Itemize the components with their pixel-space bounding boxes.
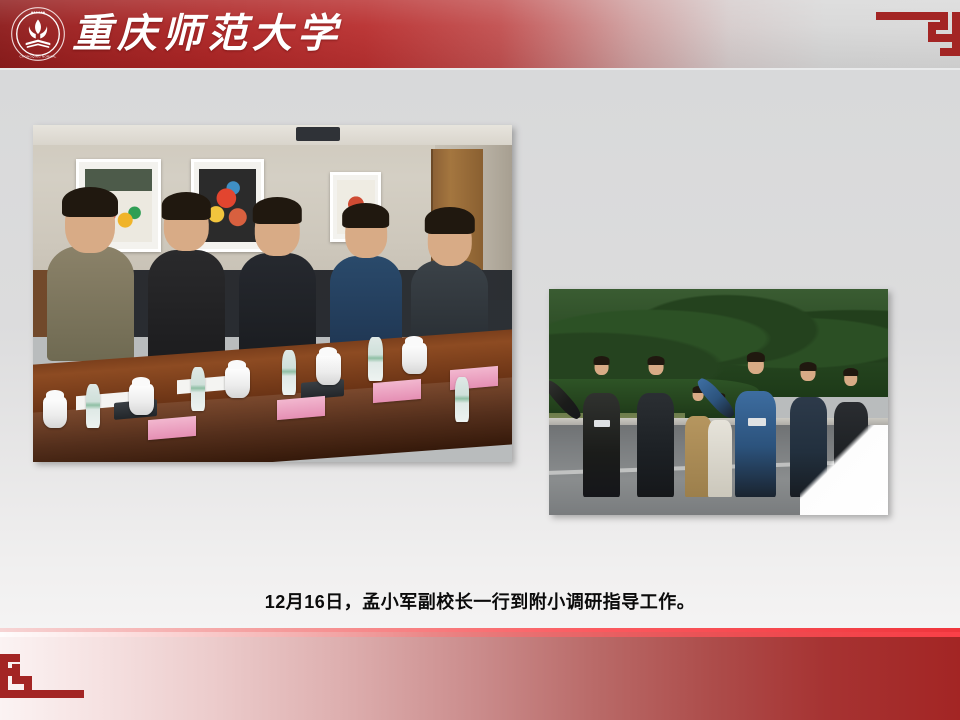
footer-banner [0, 632, 960, 720]
campus-walk-inspection-photo [549, 289, 888, 515]
footer-highlight-line [0, 632, 960, 637]
university-name-title: 重庆师范大学 [72, 4, 342, 64]
svg-text:●●●●●●: ●●●●●● [31, 10, 46, 14]
fret-corner-ornament-top-right-icon [864, 4, 960, 64]
conference-room-meeting-photo [33, 125, 512, 462]
university-emblem-icon: ●●●●●● CHONGQING NORMAL [10, 6, 66, 62]
svg-text:CHONGQING NORMAL: CHONGQING NORMAL [20, 55, 57, 59]
presentation-slide: ●●●●●● CHONGQING NORMAL 重庆师范大学 [0, 0, 960, 720]
header-divider [0, 68, 960, 70]
slide-caption: 12月16日，孟小军副校长一行到附小调研指导工作。 [0, 588, 960, 614]
fret-corner-ornament-bottom-left-icon [0, 646, 96, 706]
